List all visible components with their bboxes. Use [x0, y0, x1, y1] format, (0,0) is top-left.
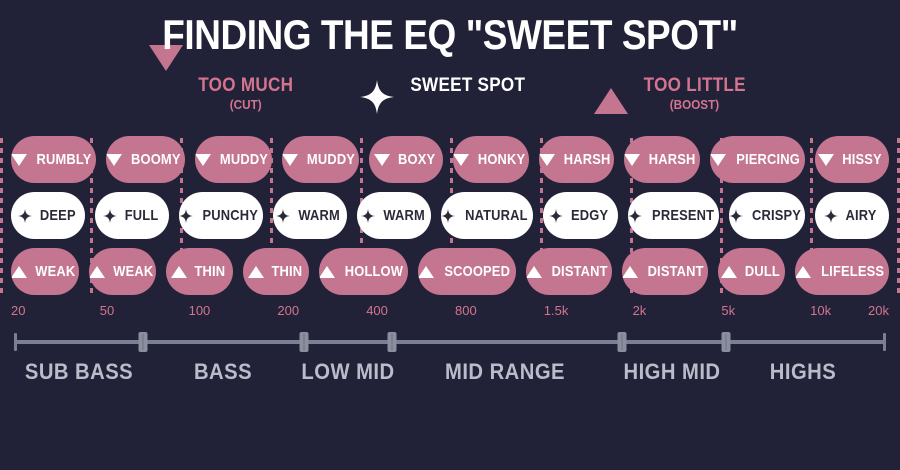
grid-cell: DISTANT: [617, 248, 713, 295]
legend-item-too-little: TOO LITTLE (BOOST): [594, 76, 751, 112]
too-much-pill[interactable]: HONKY: [453, 136, 529, 183]
grid-cell: HONKY: [448, 136, 534, 183]
sparkle-icon: [360, 80, 394, 114]
grid-cell: WARM: [352, 192, 436, 239]
sweet-spot-pill[interactable]: NATURAL: [441, 192, 533, 239]
sparkle-icon: [549, 209, 563, 223]
sweet-spot-pill[interactable]: CRISPY: [729, 192, 805, 239]
legend-label-too-much: TOO MUCH: [198, 76, 293, 96]
sparkle-icon: [361, 209, 375, 223]
legend-sublabel-boost: (BOOST): [670, 98, 719, 112]
triangle-up-icon: [89, 266, 105, 278]
row-too-much: RUMBLYBOOMYMUDDYMUDDYBOXYHONKYHARSHHARSH…: [6, 136, 894, 183]
too-much-pill[interactable]: MUDDY: [195, 136, 272, 183]
slider-handle[interactable]: [617, 332, 626, 352]
triangle-down-icon: [282, 154, 298, 166]
grid-cell: DEEP: [6, 192, 90, 239]
pill-label: MUDDY: [220, 151, 268, 168]
triangle-up-icon: [418, 266, 434, 278]
too-little-pill[interactable]: LIFELESS: [795, 248, 889, 295]
triangle-up-icon: [622, 266, 638, 278]
pill-label: SCOOPED: [445, 263, 511, 280]
too-much-pill[interactable]: BOXY: [369, 136, 443, 183]
slider-cap-left: [14, 333, 17, 351]
too-little-pill[interactable]: SCOOPED: [418, 248, 515, 295]
sparkle-icon: [18, 209, 32, 223]
pill-label: DISTANT: [551, 263, 607, 280]
sparkle-icon: [729, 209, 743, 223]
freq-tick-cell: 10k20k: [805, 303, 894, 321]
legend-label-sweet-spot: SWEET SPOT: [411, 76, 526, 96]
band-label: HIGHS: [770, 359, 836, 385]
band-labels: SUB BASSBASSLOW MIDMID RANGEHIGH MIDHIGH…: [14, 359, 886, 399]
freq-tick-cell: 5k: [716, 303, 805, 321]
freq-tick-cell: 800: [450, 303, 539, 321]
pill-label: PIERCING: [736, 151, 800, 168]
too-much-pill[interactable]: HARSH: [539, 136, 614, 183]
triangle-up-icon: [721, 266, 737, 278]
triangle-down-icon: [11, 154, 27, 166]
triangle-down-icon: [624, 154, 640, 166]
band-label: SUB BASS: [25, 359, 133, 385]
sparkle-icon: [179, 209, 193, 223]
freq-tick-cell: 100: [184, 303, 273, 321]
triangle-up-icon: [795, 266, 811, 278]
frequency-axis: 20501002004008001.5k2k5k10k20k: [0, 303, 900, 321]
freq-tick-label: 400: [366, 303, 388, 318]
pill-label: PRESENT: [652, 207, 714, 224]
too-much-pill[interactable]: BOOMY: [106, 136, 185, 183]
too-little-pill[interactable]: HOLLOW: [319, 248, 408, 295]
slider-cap-right: [883, 333, 886, 351]
slider-handle[interactable]: [722, 332, 731, 352]
too-little-pill[interactable]: WEAK: [89, 248, 157, 295]
grid-cell: CRISPY: [724, 192, 810, 239]
slider-handle[interactable]: [387, 332, 396, 352]
grid-cell: MUDDY: [190, 136, 277, 183]
triangle-up-icon: [11, 266, 27, 278]
pill-label: HISSY: [843, 151, 883, 168]
legend-label-too-little: TOO LITTLE: [643, 76, 745, 96]
frequency-slider[interactable]: [14, 331, 886, 353]
pill-label: HARSH: [564, 151, 611, 168]
too-little-pill[interactable]: DISTANT: [622, 248, 708, 295]
triangle-down-icon: [374, 154, 390, 166]
pill-label: THIN: [271, 263, 302, 280]
grid-cell: BOOMY: [101, 136, 190, 183]
sweet-spot-pill[interactable]: PRESENT: [628, 192, 719, 239]
legend: TOO MUCH (CUT) SWEET SPOT TOO LITTLE (BO…: [0, 76, 900, 128]
sparkle-icon: [824, 209, 838, 223]
pill-label: WEAK: [113, 263, 153, 280]
grid-cell: PUNCHY: [174, 192, 268, 239]
sparkle-icon: [628, 209, 642, 223]
sweet-spot-pill[interactable]: PUNCHY: [179, 192, 263, 239]
sweet-spot-pill[interactable]: WARM: [273, 192, 347, 239]
eq-pill-grid: RUMBLYBOOMYMUDDYMUDDYBOXYHONKYHARSHHARSH…: [0, 136, 900, 295]
triangle-up-icon: [319, 266, 335, 278]
row-too-little: WEAKWEAKTHINTHINHOLLOWSCOOPEDDISTANTDIST…: [6, 248, 894, 295]
grid-cell: HOLLOW: [314, 248, 413, 295]
too-much-pill[interactable]: RUMBLY: [11, 136, 96, 183]
grid-cell: SCOOPED: [413, 248, 520, 295]
pill-label: WARM: [383, 207, 425, 224]
sparkle-icon: [103, 209, 117, 223]
freq-tick-label: 100: [189, 303, 211, 318]
freq-tick-cell: 2k: [628, 303, 717, 321]
freq-tick-cell: 1.5k: [539, 303, 628, 321]
pill-label: MUDDY: [307, 151, 355, 168]
freq-tick-cell: 400: [361, 303, 450, 321]
legend-item-sweet-spot: SWEET SPOT: [360, 76, 532, 114]
pill-label: THIN: [195, 263, 226, 280]
freq-tick-label-last: 20k: [868, 303, 889, 318]
grid-cell: THIN: [238, 248, 315, 295]
freq-tick-cell: 200: [272, 303, 361, 321]
row-sweet-spot: DEEPFULLPUNCHYWARMWARMNATURALEDGYPRESENT…: [6, 192, 894, 239]
column-divider: [0, 138, 3, 293]
pill-label: BOOMY: [131, 151, 181, 168]
sweet-spot-pill[interactable]: DEEP: [11, 192, 85, 239]
pill-label: HONKY: [478, 151, 525, 168]
band-label: BASS: [194, 359, 252, 385]
freq-tick-label: 10k: [810, 303, 831, 318]
too-much-pill[interactable]: MUDDY: [282, 136, 359, 183]
pill-label: WEAK: [35, 263, 75, 280]
pill-label: HOLLOW: [345, 263, 403, 280]
grid-cell: HARSH: [619, 136, 704, 183]
band-label: LOW MID: [301, 359, 394, 385]
grid-cell: AIRY: [810, 192, 894, 239]
too-little-pill[interactable]: THIN: [243, 248, 310, 295]
pill-label: BOXY: [398, 151, 435, 168]
grid-cell: PRESENT: [623, 192, 724, 239]
freq-tick-label: 800: [455, 303, 477, 318]
too-little-pill[interactable]: WEAK: [11, 248, 79, 295]
grid-cell: NATURAL: [436, 192, 538, 239]
grid-cell: EDGY: [538, 192, 622, 239]
too-little-pill[interactable]: DULL: [718, 248, 785, 295]
triangle-down-icon: [818, 154, 834, 166]
freq-tick-label: 2k: [633, 303, 647, 318]
too-much-pill[interactable]: HISSY: [815, 136, 889, 183]
slider-handle[interactable]: [300, 332, 309, 352]
sweet-spot-pill[interactable]: FULL: [95, 192, 169, 239]
freq-tick-label: 50: [100, 303, 114, 318]
too-little-pill[interactable]: DISTANT: [526, 248, 612, 295]
pill-label: HARSH: [649, 151, 696, 168]
freq-tick-label: 200: [277, 303, 299, 318]
band-label: HIGH MID: [624, 359, 721, 385]
slider-handle[interactable]: [139, 332, 148, 352]
page-title: FINDING THE EQ "SWEET SPOT": [54, 0, 846, 56]
pill-label: DEEP: [40, 207, 76, 224]
grid-cell: WEAK: [84, 248, 162, 295]
grid-cell: FULL: [90, 192, 174, 239]
pill-label: CRISPY: [752, 207, 801, 224]
freq-tick-label: 20: [11, 303, 25, 318]
triangle-up-icon: [171, 266, 187, 278]
triangle-down-icon: [106, 154, 122, 166]
grid-cell: DULL: [713, 248, 790, 295]
pill-label: PUNCHY: [203, 207, 259, 224]
freq-tick-label: 1.5k: [544, 303, 569, 318]
legend-sublabel-cut: (CUT): [230, 98, 262, 112]
freq-tick-cell: 50: [95, 303, 184, 321]
pill-label: DULL: [744, 263, 779, 280]
triangle-down-icon: [710, 154, 726, 166]
pill-label: RUMBLY: [36, 151, 91, 168]
triangle-down-icon: [195, 154, 211, 166]
pill-label: AIRY: [846, 207, 877, 224]
grid-cell: HARSH: [534, 136, 619, 183]
pill-label: WARM: [299, 207, 341, 224]
triangle-up-icon: [526, 266, 542, 278]
sweet-spot-pill[interactable]: AIRY: [815, 192, 889, 239]
pill-label: FULL: [125, 207, 159, 224]
too-much-pill[interactable]: PIERCING: [710, 136, 805, 183]
grid-cell: WEAK: [6, 248, 84, 295]
freq-tick-cell: 20: [6, 303, 95, 321]
sparkle-icon: [441, 209, 455, 223]
sparkle-icon: [276, 209, 290, 223]
sweet-spot-pill[interactable]: WARM: [357, 192, 431, 239]
too-much-pill[interactable]: HARSH: [624, 136, 699, 183]
grid-cell: MUDDY: [277, 136, 364, 183]
grid-cell: WARM: [268, 192, 352, 239]
too-little-pill[interactable]: THIN: [166, 248, 233, 295]
freq-tick-label: 5k: [721, 303, 735, 318]
grid-cell: LIFELESS: [790, 248, 894, 295]
sweet-spot-pill[interactable]: EDGY: [543, 192, 617, 239]
triangle-down-icon: [453, 154, 469, 166]
grid-cell: THIN: [161, 248, 238, 295]
grid-cell: PIERCING: [705, 136, 810, 183]
grid-cell: BOXY: [364, 136, 448, 183]
legend-item-too-much: TOO MUCH (CUT): [149, 76, 299, 112]
pill-label: NATURAL: [466, 207, 529, 224]
pill-label: EDGY: [571, 207, 608, 224]
pill-label: LIFELESS: [821, 263, 884, 280]
band-label: MID RANGE: [445, 359, 565, 385]
triangle-down-icon: [539, 154, 555, 166]
triangle-up-icon: [248, 266, 264, 278]
grid-cell: RUMBLY: [6, 136, 101, 183]
grid-cell: DISTANT: [521, 248, 617, 295]
grid-cell: HISSY: [810, 136, 894, 183]
pill-label: DISTANT: [647, 263, 703, 280]
